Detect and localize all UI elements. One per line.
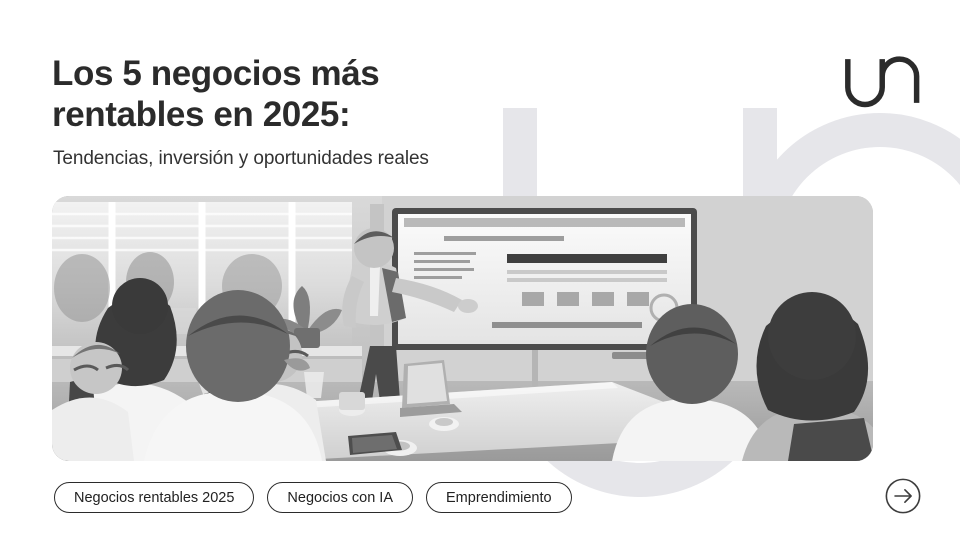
page-title: Los 5 negocios más rentables en 2025: xyxy=(52,54,572,135)
tag-negocios-rentables-2025[interactable]: Negocios rentables 2025 xyxy=(54,482,254,513)
page-subtitle: Tendencias, inversión y oportunidades re… xyxy=(53,148,429,170)
tag-emprendimiento[interactable]: Emprendimiento xyxy=(426,482,572,513)
tag-list: Negocios rentables 2025 Negocios con IA … xyxy=(54,482,572,513)
hero-image xyxy=(52,196,873,461)
arrow-right-circle-icon[interactable] xyxy=(884,477,922,515)
un-monogram-logo xyxy=(840,48,926,114)
slide-canvas: Los 5 negocios más rentables en 2025: Te… xyxy=(0,0,960,540)
tag-negocios-con-ia[interactable]: Negocios con IA xyxy=(267,482,413,513)
